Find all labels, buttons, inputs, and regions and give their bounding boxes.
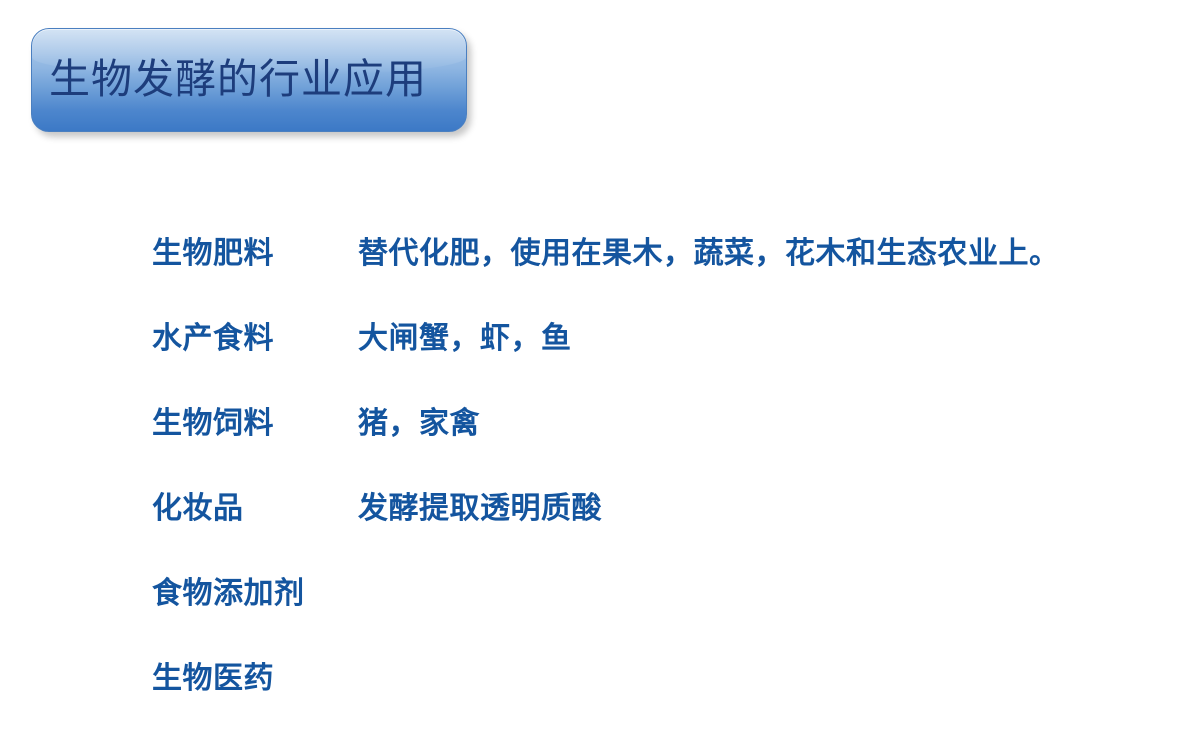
list-item: 生物肥料 替代化肥，使用在果木，蔬菜，花木和生态农业上。 [152, 228, 1192, 313]
list-item-term: 生物肥料 [152, 228, 358, 272]
list-item: 生物医药 [152, 653, 1192, 738]
list-item-detail: 大闸蟹，虾，鱼 [358, 313, 1192, 357]
list-item-detail: 替代化肥，使用在果木，蔬菜，花木和生态农业上。 [358, 228, 1192, 272]
slide-canvas: 生物发酵的行业应用 生物肥料 替代化肥，使用在果木，蔬菜，花木和生态农业上。 水… [0, 0, 1200, 753]
list-item: 化妆品 发酵提取透明质酸 [152, 483, 1192, 568]
list-item-detail: 猪，家禽 [358, 398, 1192, 442]
list-item-term: 化妆品 [152, 483, 358, 527]
list-item-term: 生物饲料 [152, 398, 358, 442]
list-item-term: 水产食料 [152, 313, 358, 357]
list-item-term: 生物医药 [152, 653, 358, 697]
page-title: 生物发酵的行业应用 [49, 28, 457, 132]
list-item: 生物饲料 猪，家禽 [152, 398, 1192, 483]
list-item-term: 食物添加剂 [152, 568, 358, 612]
list-item: 食物添加剂 [152, 568, 1192, 653]
list-item: 水产食料 大闸蟹，虾，鱼 [152, 313, 1192, 398]
list-item-detail: 发酵提取透明质酸 [358, 483, 1192, 527]
application-list: 生物肥料 替代化肥，使用在果木，蔬菜，花木和生态农业上。 水产食料 大闸蟹，虾，… [152, 228, 1192, 738]
slide-title-container: 生物发酵的行业应用 [31, 28, 467, 132]
